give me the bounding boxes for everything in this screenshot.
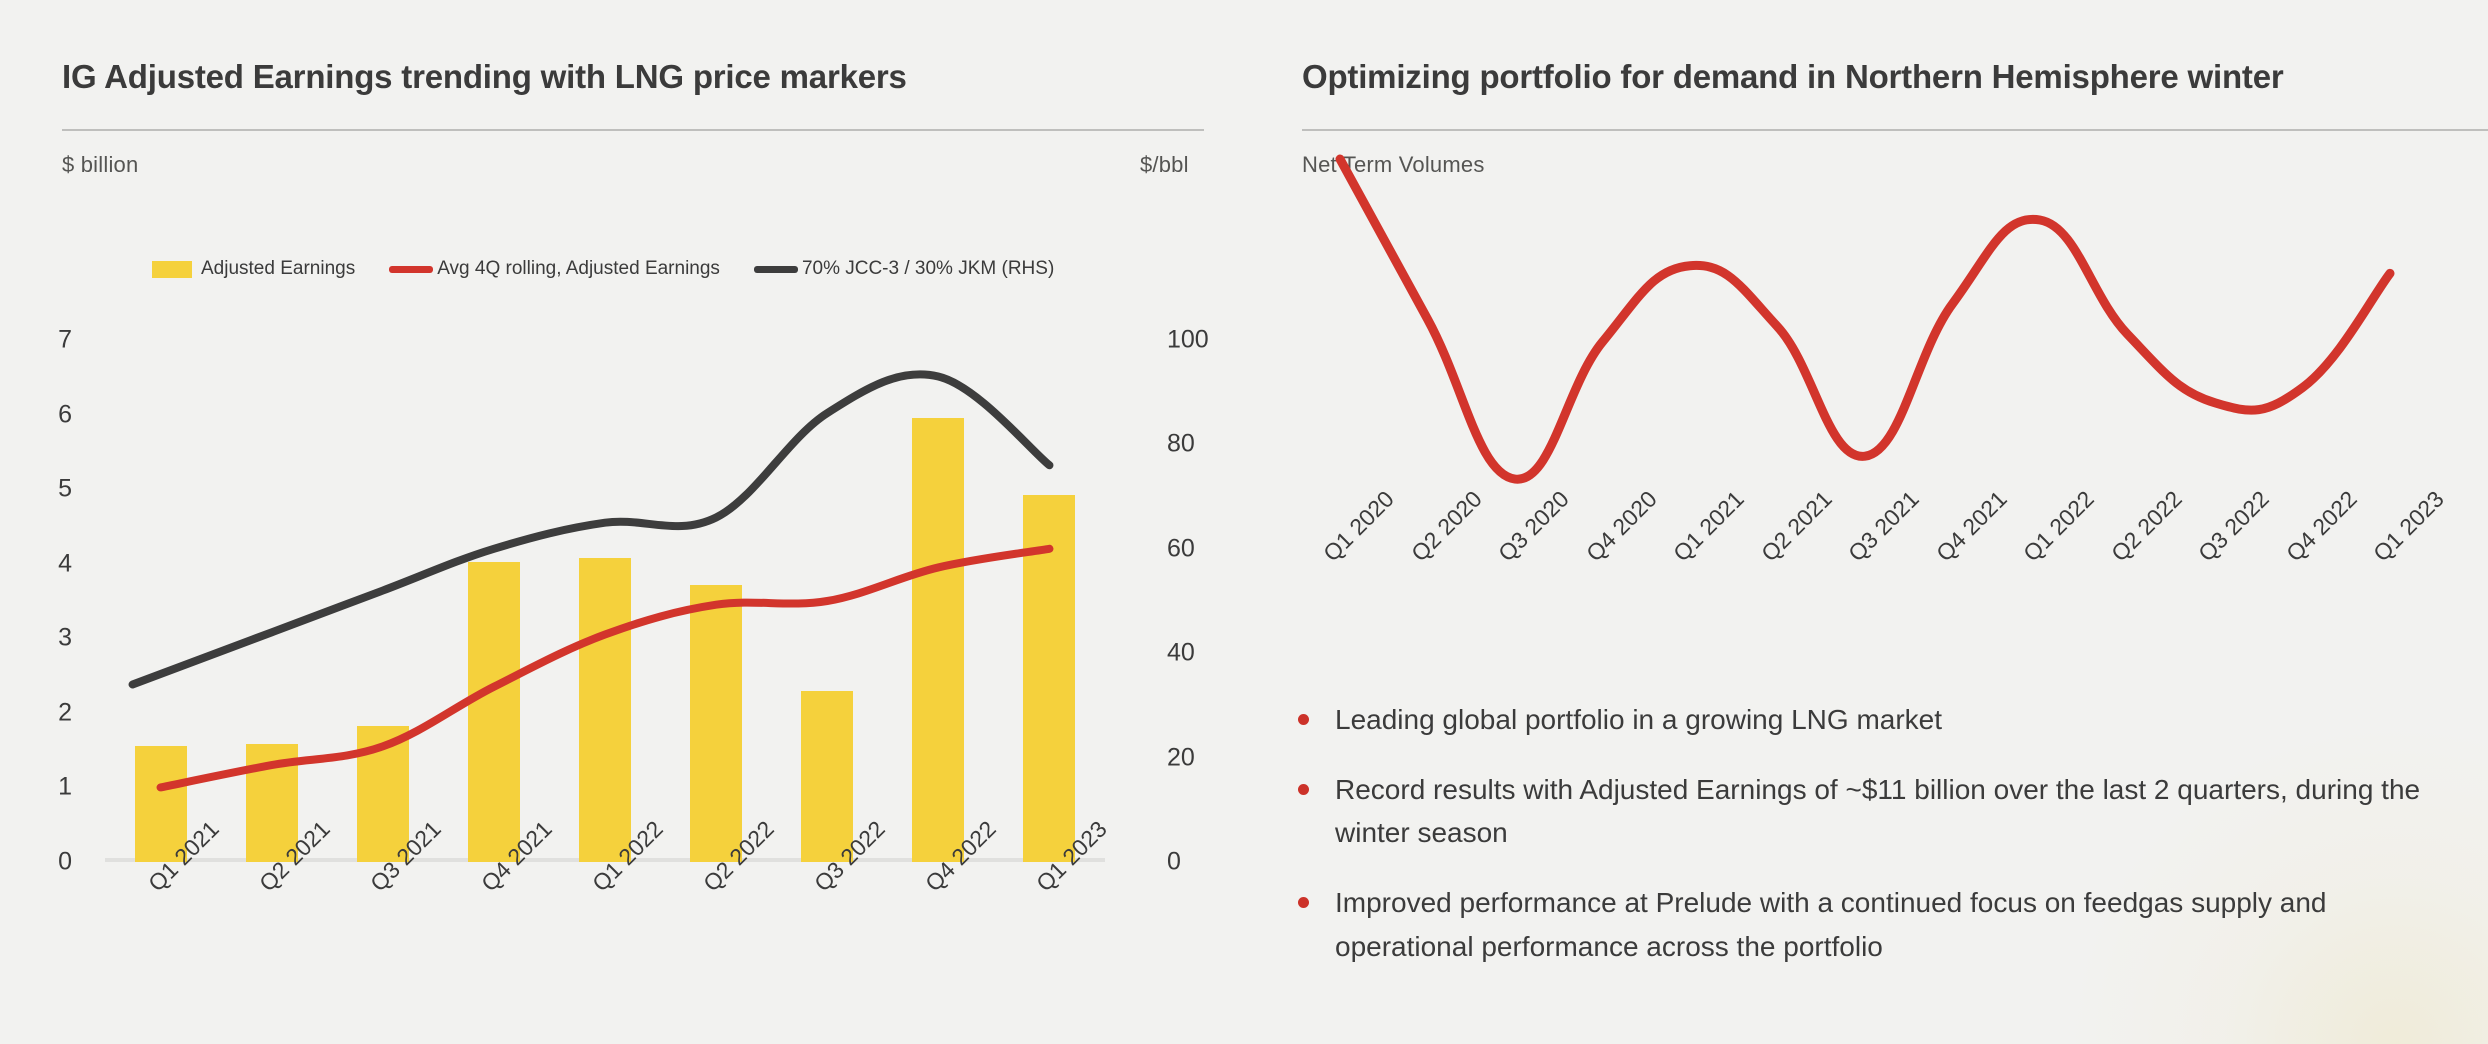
y-tick-3: 3 <box>58 624 72 653</box>
legend-item-jcc-jkm[interactable]: 70% JCC-3 / 30% JKM (RHS) <box>754 258 1054 280</box>
left-chart-lines <box>105 340 1105 862</box>
bullet-dot-icon <box>1298 714 1309 725</box>
legend-line-swatch-dark-icon <box>754 266 798 273</box>
left-axis-unit-label: $ billion <box>62 152 138 178</box>
y2-tick-80: 80 <box>1167 430 1195 459</box>
right-plot-area: Q1 2020Q2 2020Q3 2020Q4 2020Q1 2021Q2 20… <box>1340 140 2390 540</box>
y-tick-4: 4 <box>58 549 72 578</box>
legend-bar-swatch-icon <box>152 261 192 278</box>
y-tick-1: 1 <box>58 773 72 802</box>
legend-item-adjusted-earnings[interactable]: Adjusted Earnings <box>152 258 355 280</box>
bullet-dot-icon <box>1298 784 1309 795</box>
y2-tick-20: 20 <box>1167 743 1195 772</box>
y-tick-0: 0 <box>58 848 72 877</box>
y-tick-6: 6 <box>58 400 72 429</box>
bullet-text: Leading global portfolio in a growing LN… <box>1335 698 1942 742</box>
y2-tick-40: 40 <box>1167 639 1195 668</box>
left-panel-title: IG Adjusted Earnings trending with LNG p… <box>62 58 907 96</box>
bullet-item: Record results with Adjusted Earnings of… <box>1298 768 2478 855</box>
right-axis-unit-label: $/bbl <box>1140 152 1189 178</box>
legend-line-swatch-red-icon <box>389 266 433 273</box>
bullet-dot-icon <box>1298 897 1309 908</box>
y2-tick-0: 0 <box>1167 848 1181 877</box>
right-panel-title: Optimizing portfolio for demand in North… <box>1302 58 2284 96</box>
legend-item-avg-4q-rolling[interactable]: Avg 4Q rolling, Adjusted Earnings <box>389 258 720 280</box>
bullet-text: Improved performance at Prelude with a c… <box>1335 881 2425 968</box>
left-title-divider <box>62 129 1204 131</box>
y-tick-7: 7 <box>58 326 72 355</box>
chart-legend: Adjusted Earnings Avg 4Q rolling, Adjust… <box>152 258 1088 280</box>
legend-label-avg-4q-rolling: Avg 4Q rolling, Adjusted Earnings <box>437 258 720 280</box>
y2-tick-100: 100 <box>1167 326 1209 355</box>
left-chart-panel: IG Adjusted Earnings trending with LNG p… <box>0 0 1245 1044</box>
legend-label-jcc-jkm: 70% JCC-3 / 30% JKM (RHS) <box>802 258 1054 280</box>
net-term-volumes-line <box>1340 140 2390 540</box>
key-points-list: Leading global portfolio in a growing LN… <box>1298 698 2478 994</box>
y2-tick-60: 60 <box>1167 534 1195 563</box>
left-plot-area: 01234567 020406080100 Q1 2021Q2 2021Q3 2… <box>105 340 1105 862</box>
right-title-divider <box>1302 129 2488 131</box>
bullet-item: Improved performance at Prelude with a c… <box>1298 881 2478 968</box>
bullet-text: Record results with Adjusted Earnings of… <box>1335 768 2425 855</box>
y-tick-2: 2 <box>58 698 72 727</box>
legend-label-adjusted-earnings: Adjusted Earnings <box>201 258 355 280</box>
bullet-item: Leading global portfolio in a growing LN… <box>1298 698 2478 742</box>
y-tick-5: 5 <box>58 475 72 504</box>
